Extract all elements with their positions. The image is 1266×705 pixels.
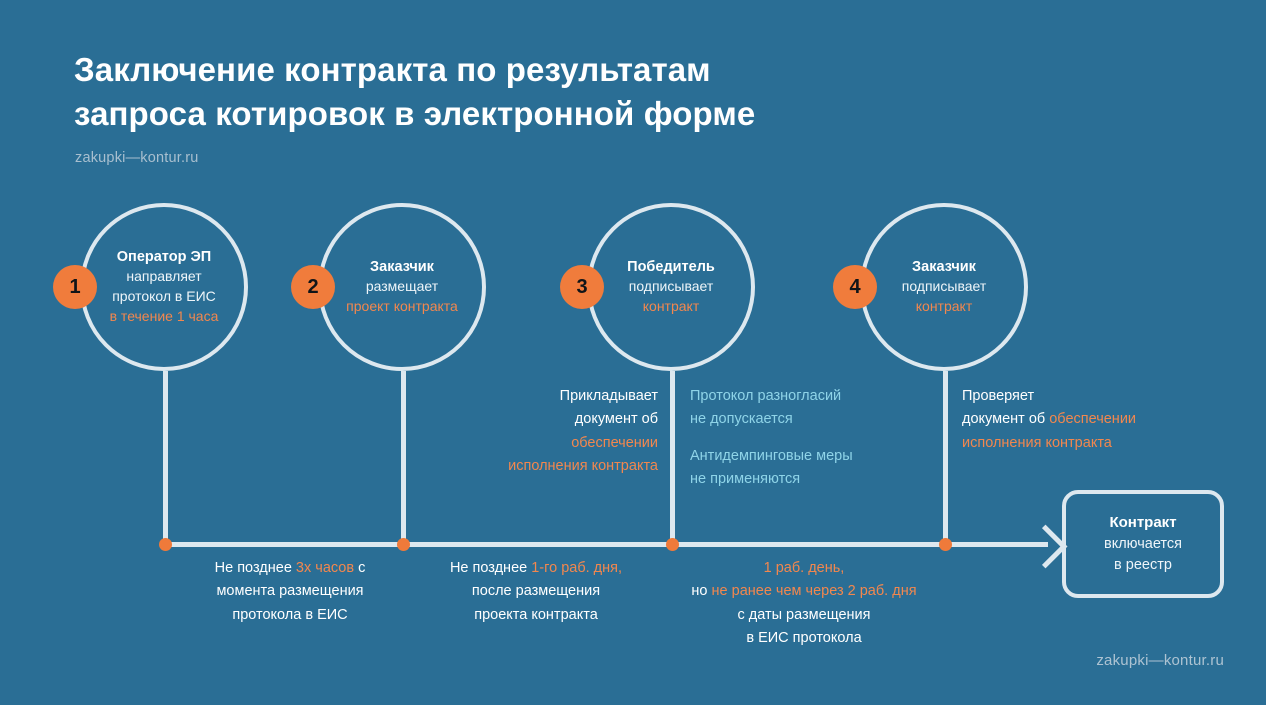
note-4-line-2: документ об обеспечении	[962, 408, 1222, 431]
step-badge-2-number: 2	[307, 276, 318, 299]
result-box-line-1: включается	[1104, 534, 1182, 555]
connector-vline-4	[943, 371, 948, 547]
brand-watermark-top: zakupki—kontur.ru	[75, 150, 199, 166]
note-4-line-1: Проверяет	[962, 385, 1222, 408]
step-2-accent: проект контракта	[346, 297, 458, 317]
caption-3-line-2-white: но	[691, 583, 711, 599]
result-box-title: Контракт	[1109, 512, 1176, 534]
step-1-title: Оператор ЭП	[117, 247, 211, 268]
step-badge-2[interactable]: 2	[291, 265, 335, 309]
caption-1-suffix: с	[354, 560, 365, 576]
step-badge-1[interactable]: 1	[53, 265, 97, 309]
caption-2-line-3: проекта контракта	[418, 604, 654, 627]
note-3-line-3: обеспечении	[420, 432, 658, 455]
caption-interval-3: 1 раб. день, но не ранее чем через 2 раб…	[668, 557, 940, 651]
caption-2-line-2: после размещения	[418, 580, 654, 603]
step-1-accent: в течение 1 часа	[110, 307, 219, 327]
caption-2-accent: 1-го раб. дня,	[531, 560, 622, 576]
caption-1-prefix: Не позднее	[215, 560, 296, 576]
note-step-4-verification: Проверяет документ об обеспечении исполн…	[962, 385, 1222, 455]
connector-vline-3	[670, 371, 675, 547]
step-2-subtitle: размещает	[366, 277, 438, 297]
note-4-line-3: исполнения контракта	[962, 432, 1222, 455]
step-3-subtitle: подписывает	[629, 277, 714, 297]
step-circle-2[interactable]: Заказчик размещает проект контракта	[318, 203, 486, 371]
page-title-line-2: запроса котировок в электронной форме	[74, 92, 914, 136]
timeline-arrow-icon	[1024, 525, 1068, 569]
caption-3-line-4: в ЕИС протокола	[668, 627, 940, 650]
page-title-line-1: Заключение контракта по результатам	[74, 48, 914, 92]
note-step-3-attachment: Прикладывает документ об обеспечении исп…	[420, 385, 658, 479]
step-badge-4[interactable]: 4	[833, 265, 877, 309]
note-spacer	[690, 432, 940, 445]
caption-1-accent: 3х часов	[296, 560, 354, 576]
timeline-dot-1	[159, 538, 172, 551]
step-badge-4-number: 4	[849, 276, 860, 299]
step-3-accent: контракт	[643, 297, 699, 317]
note-cyan-a-line-1: Протокол разногласий	[690, 385, 940, 408]
note-4-line-2-white: документ об	[962, 411, 1049, 427]
note-cyan-a-line-2: не допускается	[690, 408, 940, 431]
caption-1-line-3: протокола в ЕИС	[178, 604, 402, 627]
caption-1-line-1: Не позднее 3х часов с	[178, 557, 402, 580]
connector-vline-1	[163, 371, 168, 547]
result-box-line-2: в реестр	[1114, 555, 1172, 576]
caption-2-prefix: Не позднее	[450, 560, 531, 576]
step-4-accent: контракт	[916, 297, 972, 317]
step-4-subtitle: подписывает	[902, 277, 987, 297]
step-circle-1[interactable]: Оператор ЭП направляет протокол в ЕИС в …	[80, 203, 248, 371]
brand-watermark-bottom: zakupki—kontur.ru	[1096, 652, 1224, 669]
step-4-title: Заказчик	[912, 257, 976, 278]
caption-interval-1: Не позднее 3х часов с момента размещения…	[178, 557, 402, 627]
timeline-dot-4	[939, 538, 952, 551]
step-1-subtitle-2: протокол в ЕИС	[112, 287, 216, 307]
step-1-subtitle: направляет	[126, 267, 201, 287]
infographic-canvas: Заключение контракта по результатам запр…	[0, 0, 1266, 705]
note-3-line-4: исполнения контракта	[420, 455, 658, 478]
note-4-line-2-orange: обеспечении	[1049, 411, 1136, 427]
caption-3-line-1: 1 раб. день,	[668, 557, 940, 580]
page-title: Заключение контракта по результатам запр…	[74, 48, 914, 136]
note-cyan-b-line-1: Антидемпинговые меры	[690, 445, 940, 468]
caption-interval-2: Не позднее 1-го раб. дня, после размещен…	[418, 557, 654, 627]
caption-3-line-2: но не ранее чем через 2 раб. дня	[668, 580, 940, 603]
timeline-dot-2	[397, 538, 410, 551]
step-circle-3[interactable]: Победитель подписывает контракт	[587, 203, 755, 371]
step-3-title: Победитель	[627, 257, 715, 278]
step-badge-1-number: 1	[69, 276, 80, 299]
note-step-3-conditions: Протокол разногласий не допускается Анти…	[690, 385, 940, 492]
timeline-axis	[163, 542, 1048, 547]
result-box[interactable]: Контракт включается в реестр	[1062, 490, 1224, 598]
note-cyan-b-line-2: не применяются	[690, 468, 940, 491]
step-2-title: Заказчик	[370, 257, 434, 278]
timeline-dot-3	[666, 538, 679, 551]
caption-1-line-2: момента размещения	[178, 580, 402, 603]
note-3-line-2: документ об	[420, 408, 658, 431]
caption-3-line-2-orange: не ранее чем через 2 раб. дня	[712, 583, 917, 599]
connector-vline-2	[401, 371, 406, 547]
caption-2-line-1: Не позднее 1-го раб. дня,	[418, 557, 654, 580]
step-badge-3-number: 3	[576, 276, 587, 299]
caption-3-line-3: с даты размещения	[668, 604, 940, 627]
step-badge-3[interactable]: 3	[560, 265, 604, 309]
step-circle-4[interactable]: Заказчик подписывает контракт	[860, 203, 1028, 371]
note-3-line-1: Прикладывает	[420, 385, 658, 408]
